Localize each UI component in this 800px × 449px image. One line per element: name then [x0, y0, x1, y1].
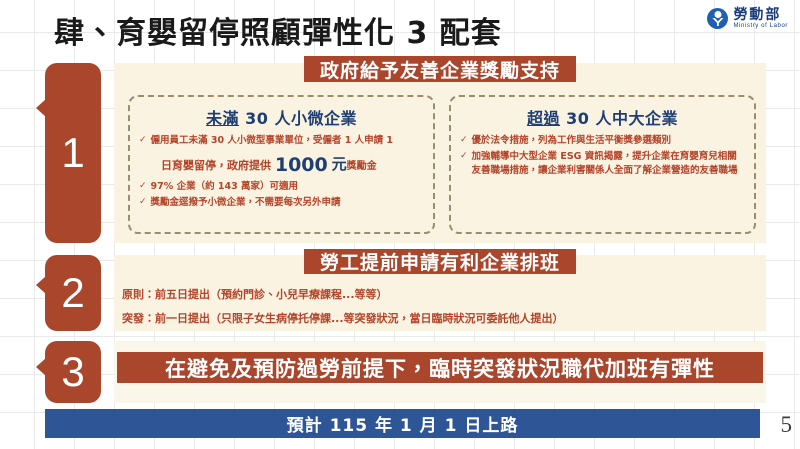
amount-value: 1000	[275, 154, 328, 176]
amount-unit: 元	[332, 155, 347, 173]
bullet-text: 加強輔導中大型企業 ESG 資訊揭露，提升企業在育嬰育兒相關友善職場措施，讓企業…	[472, 150, 745, 178]
section-ribbon-1: 政府給予友善企業獎勵支持	[304, 56, 576, 82]
bullet-item: ✓ 97% 企業（約 143 萬家）可適用	[139, 180, 424, 194]
card-title-large-emphasis: 超過	[527, 109, 560, 128]
slide-canvas: 肆、育嬰留停照顧彈性化 3 配套 勞動部 Ministry of Labor 1…	[0, 0, 800, 449]
bullet-item: ✓ 加強輔導中大型企業 ESG 資訊揭露，提升企業在育嬰育兒相關友善職場措施，讓…	[460, 150, 745, 178]
bullet-text: 獎勵金逕撥予小微企業，不需要每次另外申請	[151, 196, 424, 210]
card-title-small-rest: 30 人小微企業	[239, 109, 357, 128]
section2-urgent-line: 突發：前一日提出（只限子女生病停托停課...等突發狀況，當日臨時狀況可委託他人提…	[122, 310, 564, 326]
bullet-amount-line: 日育嬰留停，政府提供 1000 元獎勵金	[161, 153, 424, 176]
ministry-logo: 勞動部 Ministry of Labor	[707, 8, 788, 29]
amount-suffix: 獎勵金	[347, 161, 377, 172]
check-icon: ✓	[139, 134, 147, 148]
ministry-name-cn: 勞動部	[733, 8, 788, 23]
ministry-emblem-icon	[707, 8, 728, 29]
bullet-item: ✓ 獎勵金逕撥予小微企業，不需要每次另外申請	[139, 196, 424, 210]
bullet-item: ✓ 僱用員工未滿 30 人小微型事業單位，受僱者 1 人申請 1	[139, 134, 424, 148]
check-icon: ✓	[139, 180, 147, 194]
card-group: 未滿 30 人小微企業 ✓ 僱用員工未滿 30 人小微型事業單位，受僱者 1 人…	[128, 95, 756, 234]
bullet-text: 僱用員工未滿 30 人小微型事業單位，受僱者 1 人申請 1	[151, 134, 424, 148]
ministry-logo-text: 勞動部 Ministry of Labor	[733, 8, 788, 29]
check-icon: ✓	[460, 150, 468, 178]
bullet-item: ✓ 優於法令措施，列為工作與生活平衡獎參選類別	[460, 134, 745, 148]
section2-rule-line: 原則：前五日提出（預約門診、小兒早療課程...等等）	[122, 286, 388, 302]
section-ribbon-2: 勞工提前申請有利企業排班	[304, 249, 576, 274]
card-small-enterprise: 未滿 30 人小微企業 ✓ 僱用員工未滿 30 人小微型事業單位，受僱者 1 人…	[128, 95, 435, 234]
ministry-name-en: Ministry of Labor	[733, 23, 788, 29]
card-title-large-rest: 30 人中大企業	[560, 109, 678, 128]
section-number-badge-3: 3	[45, 341, 101, 403]
card-title-small-emphasis: 未滿	[206, 109, 239, 128]
bullet-text: 優於法令措施，列為工作與生活平衡獎參選類別	[472, 134, 745, 148]
page-number: 5	[781, 412, 793, 438]
check-icon: ✓	[460, 134, 468, 148]
card-title-small: 未滿 30 人小微企業	[139, 105, 424, 129]
section-panel-2: 勞工提前申請有利企業排班 原則：前五日提出（預約門診、小兒早療課程...等等） …	[114, 255, 766, 331]
card-title-large: 超過 30 人中大企業	[460, 105, 745, 129]
card-large-enterprise: 超過 30 人中大企業 ✓ 優於法令措施，列為工作與生活平衡獎參選類別 ✓ 加強…	[449, 95, 756, 234]
page-title: 肆、育嬰留停照顧彈性化 3 配套	[54, 8, 502, 52]
section-number-badge-2: 2	[45, 255, 101, 331]
section3-banner: 在避免及預防過勞前提下，臨時突發狀況職代加班有彈性	[117, 352, 763, 383]
bullet-text: 97% 企業（約 143 萬家）可適用	[151, 180, 424, 194]
amount-prefix: 日育嬰留停，政府提供	[161, 159, 275, 172]
section-panel-1: 政府給予友善企業獎勵支持 未滿 30 人小微企業 ✓ 僱用員工未滿 30 人小微…	[114, 63, 766, 243]
section-panel-3: 在避免及預防過勞前提下，臨時突發狀況職代加班有彈性	[114, 341, 766, 403]
footer-bar: 預計 115 年 1 月 1 日上路	[45, 409, 760, 438]
check-icon: ✓	[139, 196, 147, 210]
section-number-badge-1: 1	[45, 63, 101, 243]
